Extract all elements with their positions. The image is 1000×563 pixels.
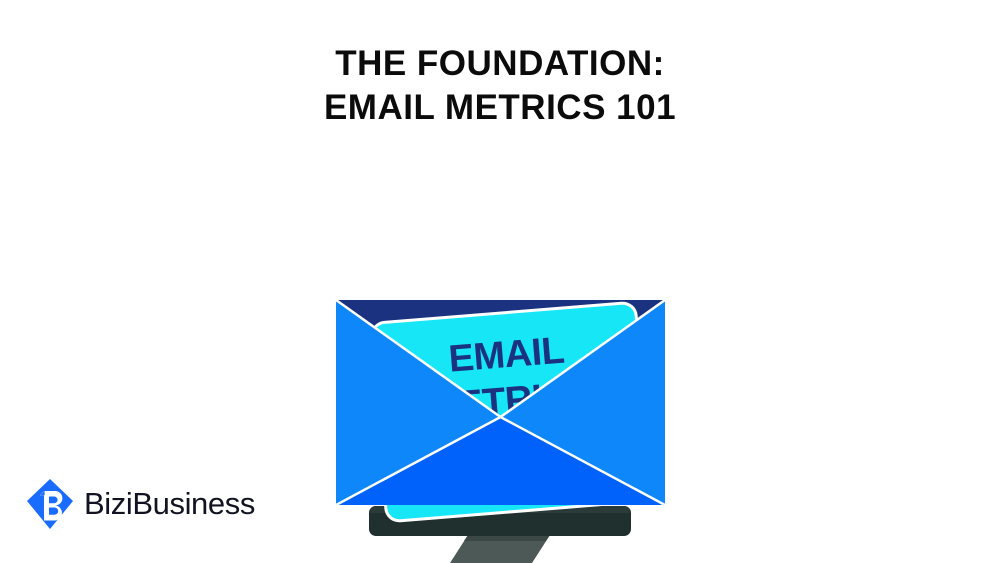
page-title: THE FOUNDATION: EMAIL METRICS 101 (0, 42, 1000, 130)
bizibusiness-diamond-logo-icon (26, 478, 74, 530)
email-envelope-illustration: EMAIL METRICS 101 (320, 150, 680, 563)
envelope-icon: EMAIL METRICS 101 (336, 300, 665, 505)
slide-canvas: THE FOUNDATION: EMAIL METRICS 101 EMAIL … (0, 0, 1000, 563)
envelope-seam-lines-icon (336, 300, 665, 505)
title-line-1: THE FOUNDATION: (0, 42, 1000, 86)
brand-logo[interactable]: BiziBusiness (26, 478, 255, 530)
title-line-2: EMAIL METRICS 101 (0, 86, 1000, 130)
brand-name-label: BiziBusiness (84, 486, 255, 522)
